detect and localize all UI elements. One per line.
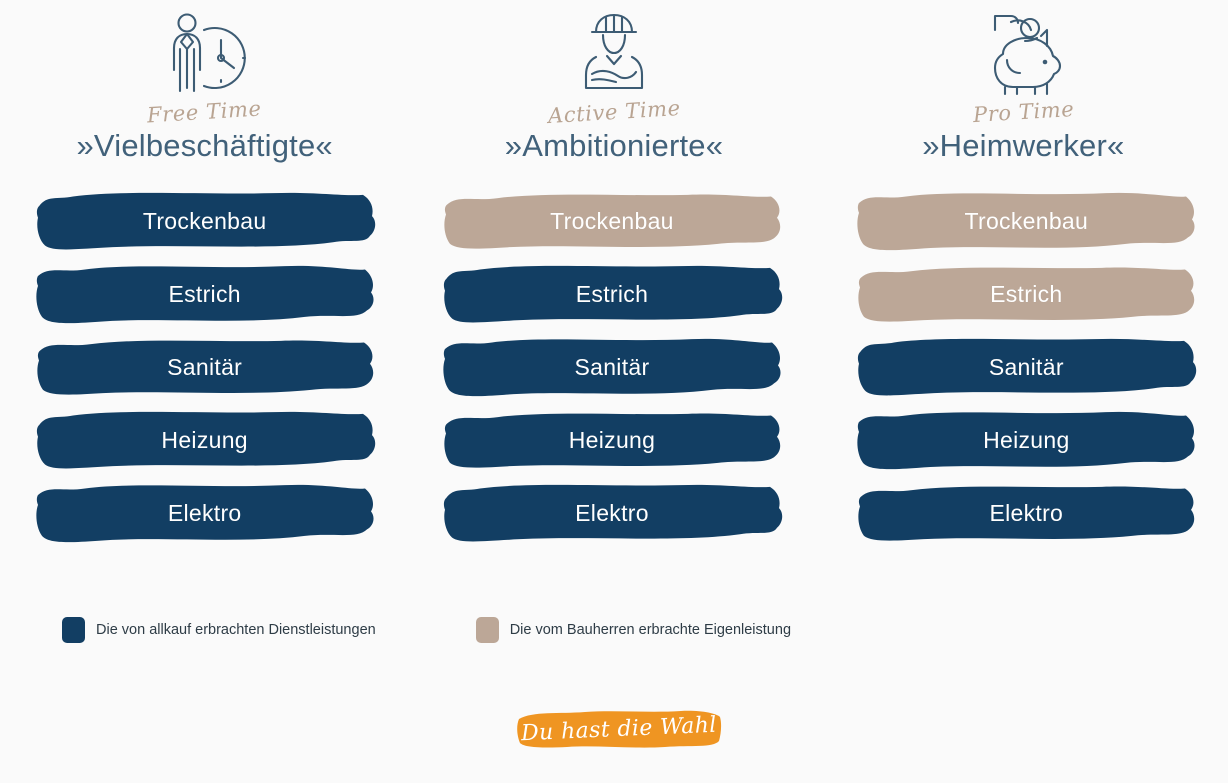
trade-bar-label: Sanitär [574, 354, 649, 381]
plan-column-3: Pro Time»Heimwerker«TrockenbauEstrichSan… [819, 0, 1228, 550]
column-title: »Ambitionierte« [505, 129, 723, 163]
trade-bar[interactable]: Heizung [33, 404, 377, 476]
trade-bar-label: Elektro [989, 500, 1063, 527]
legend-swatch-navy [62, 617, 85, 643]
legend: Die von allkauf erbrachten Dienstleistun… [62, 617, 822, 643]
construction-worker-icon [566, 8, 662, 100]
trade-bar[interactable]: Trockenbau [440, 185, 784, 257]
infographic-board: Free Time»Vielbeschäftigte«TrockenbauEst… [0, 0, 1228, 783]
trade-bar[interactable]: Sanitär [440, 331, 784, 403]
column-script-label: Active Time [547, 98, 681, 127]
trade-bar-label: Elektro [168, 500, 242, 527]
plan-columns: Free Time»Vielbeschäftigte«TrockenbauEst… [0, 0, 1228, 550]
trade-bar-list: TrockenbauEstrichSanitärHeizungElektro [409, 185, 818, 550]
legend-item-eigenleistung: Die vom Bauherren erbrachte Eigenleistun… [476, 617, 791, 643]
trade-bar[interactable]: Estrich [33, 258, 377, 330]
trade-bar[interactable]: Trockenbau [854, 185, 1198, 257]
trade-bar-label: Sanitär [167, 354, 242, 381]
trade-bar[interactable]: Heizung [440, 404, 784, 476]
column-script-label: Pro Time [972, 99, 1074, 126]
du-hast-die-wahl-badge[interactable]: Du hast die Wahl [515, 707, 723, 751]
column-header: Pro Time»Heimwerker« [922, 0, 1124, 185]
column-header: Active Time»Ambitionierte« [505, 0, 723, 185]
plan-column-1: Free Time»Vielbeschäftigte«TrockenbauEst… [0, 0, 409, 550]
column-title: »Vielbeschäftigte« [76, 129, 332, 163]
trade-bar-label: Trockenbau [965, 208, 1089, 235]
legend-swatch-tan [476, 617, 499, 643]
trade-bar[interactable]: Sanitär [33, 331, 377, 403]
trade-bar-list: TrockenbauEstrichSanitärHeizungElektro [0, 185, 409, 550]
trade-bar-label: Sanitär [989, 354, 1064, 381]
person-with-clock-icon [157, 8, 253, 100]
column-title: »Heimwerker« [922, 129, 1124, 163]
trade-bar-label: Estrich [168, 281, 240, 308]
trade-bar-label: Heizung [161, 427, 248, 454]
trade-bar[interactable]: Estrich [440, 258, 784, 330]
plan-column-2: Active Time»Ambitionierte«TrockenbauEstr… [409, 0, 818, 550]
legend-label: Die vom Bauherren erbrachte Eigenleistun… [510, 622, 791, 638]
legend-item-dienstleistungen: Die von allkauf erbrachten Dienstleistun… [62, 617, 376, 643]
trade-bar[interactable]: Elektro [33, 477, 377, 549]
trade-bar[interactable]: Elektro [440, 477, 784, 549]
trade-bar[interactable]: Heizung [854, 404, 1198, 476]
trade-bar[interactable]: Estrich [854, 258, 1198, 330]
trade-bar-label: Trockenbau [143, 208, 267, 235]
trade-bar-list: TrockenbauEstrichSanitärHeizungElektro [819, 185, 1228, 550]
trade-bar[interactable]: Sanitär [854, 331, 1198, 403]
trade-bar-label: Heizung [569, 427, 656, 454]
column-script-label: Free Time [147, 99, 263, 127]
piggy-bank-icon [975, 8, 1071, 100]
trade-bar[interactable]: Elektro [854, 477, 1198, 549]
legend-label: Die von allkauf erbrachten Dienstleistun… [96, 622, 376, 638]
trade-bar-label: Trockenbau [550, 208, 674, 235]
trade-bar-label: Elektro [575, 500, 649, 527]
trade-bar-label: Estrich [990, 281, 1062, 308]
trade-bar[interactable]: Trockenbau [33, 185, 377, 257]
trade-bar-label: Heizung [983, 427, 1070, 454]
trade-bar-label: Estrich [576, 281, 648, 308]
column-header: Free Time»Vielbeschäftigte« [76, 0, 332, 185]
